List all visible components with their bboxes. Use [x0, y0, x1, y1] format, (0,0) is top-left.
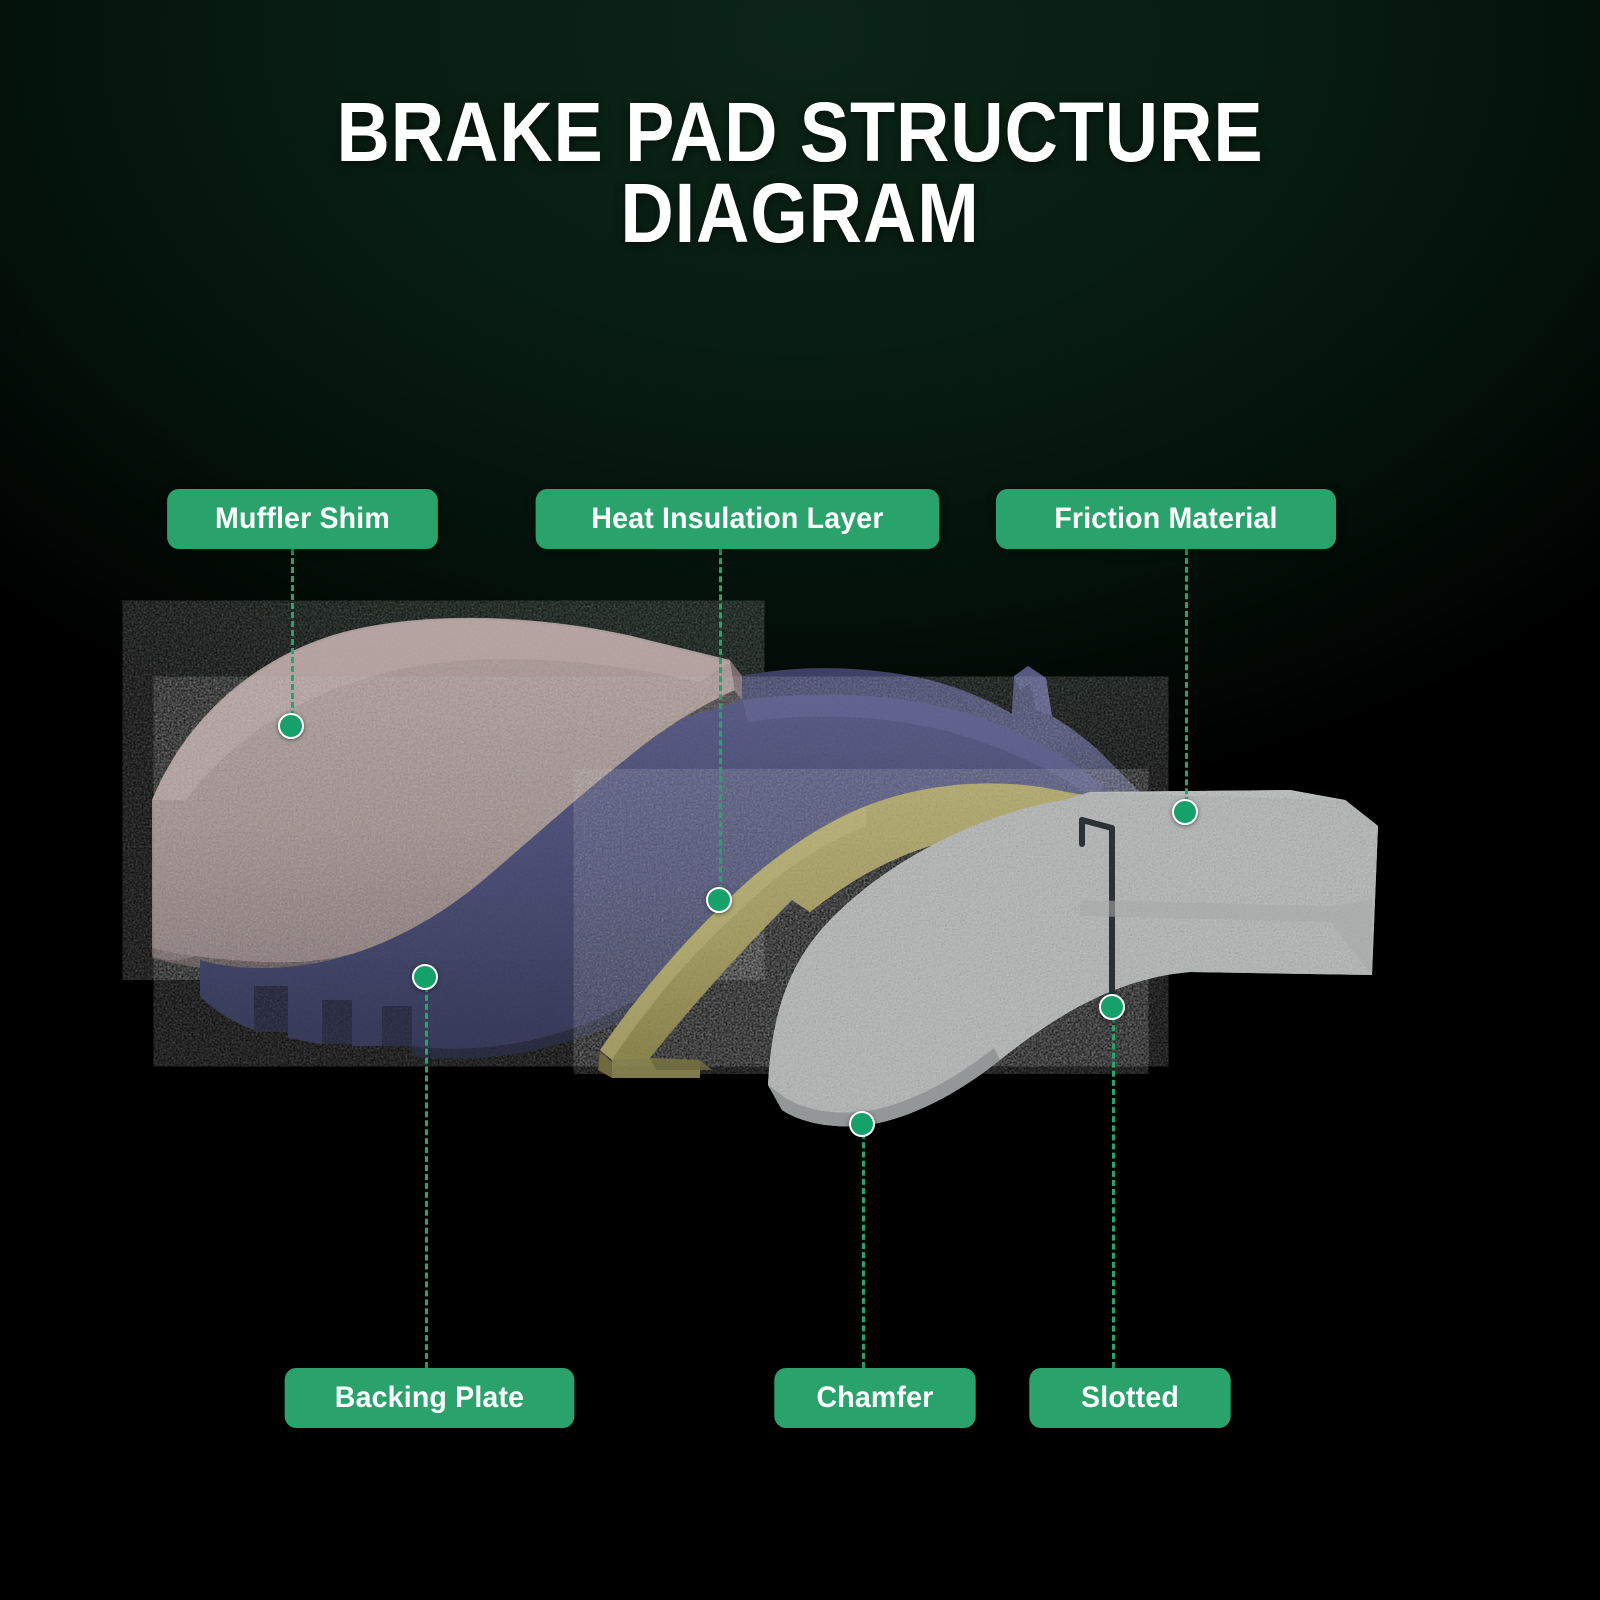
- label-heat-insulation-layer[interactable]: Heat Insulation Layer: [536, 489, 940, 549]
- connector-backing-plate: [425, 977, 428, 1368]
- connector-chamfer: [862, 1124, 865, 1368]
- marker-backing-plate[interactable]: [412, 964, 438, 990]
- label-slotted-text: Slotted: [1081, 1383, 1179, 1413]
- diagram-canvas: BRAKE PAD STRUCTURE DIAGRAM Muffler Shim…: [0, 0, 1600, 1600]
- label-backing-plate-text: Backing Plate: [335, 1383, 524, 1413]
- label-muffler-shim-text: Muffler Shim: [215, 504, 390, 534]
- connector-muffler-shim: [291, 549, 294, 726]
- label-chamfer-text: Chamfer: [817, 1383, 934, 1413]
- label-friction-material-text: Friction Material: [1054, 504, 1277, 534]
- connector-slotted: [1112, 1007, 1115, 1368]
- label-muffler-shim[interactable]: Muffler Shim: [167, 489, 438, 549]
- connector-friction-material: [1185, 549, 1188, 812]
- page-title: BRAKE PAD STRUCTURE DIAGRAM: [96, 92, 1504, 253]
- marker-chamfer[interactable]: [849, 1111, 875, 1137]
- connector-heat-insulation-layer: [719, 549, 722, 900]
- label-backing-plate[interactable]: Backing Plate: [285, 1368, 575, 1428]
- label-friction-material[interactable]: Friction Material: [996, 489, 1336, 549]
- label-chamfer[interactable]: Chamfer: [774, 1368, 975, 1428]
- label-slotted[interactable]: Slotted: [1029, 1368, 1230, 1428]
- marker-slotted[interactable]: [1099, 994, 1125, 1020]
- marker-heat-insulation-layer[interactable]: [706, 887, 732, 913]
- marker-friction-material[interactable]: [1172, 799, 1198, 825]
- marker-muffler-shim[interactable]: [278, 713, 304, 739]
- label-heat-insulation-layer-text: Heat Insulation Layer: [591, 504, 883, 534]
